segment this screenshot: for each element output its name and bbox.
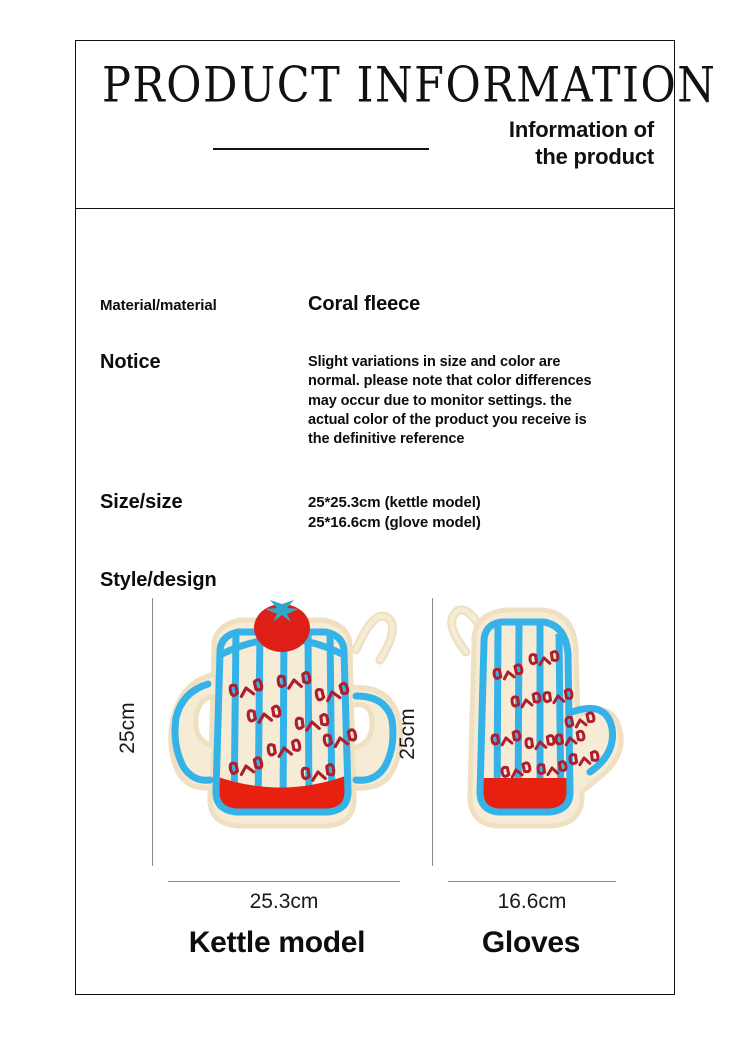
kettle-width-measure-line — [168, 881, 400, 882]
glove-width-label: 16.6cm — [448, 890, 616, 914]
tomato-knob-icon — [254, 600, 310, 652]
header-subtitle: Information of the product — [394, 117, 654, 171]
glove-potholder-illustration — [440, 596, 630, 874]
spec-label-notice: Notice — [100, 351, 161, 374]
spec-value-notice: Slight variations in size and color are … — [308, 353, 608, 449]
glove-caption: Gloves — [428, 926, 634, 960]
kettle-height-label: 25cm — [116, 693, 140, 763]
glove-width-measure-line — [448, 881, 616, 882]
glove-height-measure-line — [432, 598, 433, 866]
product-figures: 25cm — [76, 586, 674, 986]
spec-label-size: Size/size — [100, 491, 182, 514]
page-title: PRODUCT INFORMATION — [102, 57, 716, 114]
subtitle-line-1: Information of — [394, 117, 654, 144]
spec-value-material: Coral fleece — [308, 293, 420, 316]
spec-value-size: 25*25.3cm (kettle model) 25*16.6cm (glov… — [308, 493, 488, 534]
glove-height-label: 25cm — [396, 699, 420, 769]
kettle-width-label: 25.3cm — [168, 890, 400, 914]
card-header: PRODUCT INFORMATION Information of the p… — [76, 41, 674, 209]
subtitle-line-2: the product — [394, 144, 654, 171]
spec-label-material: Material/material — [100, 297, 217, 314]
kettle-height-measure-line — [152, 598, 153, 866]
kettle-caption: Kettle model — [146, 926, 408, 960]
kettle-hanging-loop-icon — [356, 616, 393, 660]
kettle-potholder-illustration — [160, 596, 408, 874]
product-information-card: PRODUCT INFORMATION Information of the p… — [75, 40, 675, 995]
